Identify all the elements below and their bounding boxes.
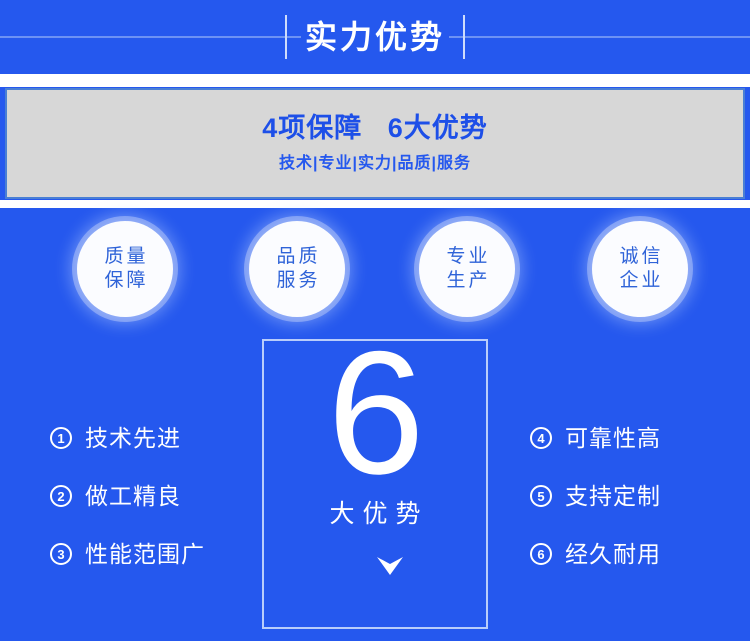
list-item-label: 支持定制 [565,485,661,508]
panel-headline: 4项保障 6大优势 [262,115,488,142]
feature-circle-quality[interactable]: 质量 保障 [77,221,173,317]
list-item-label: 性能范围广 [85,543,205,566]
list-item: 2 做工精良 [50,482,205,510]
advantage-count-caption: 大优势 [321,502,428,527]
vertical-tick-icon-right [463,15,465,59]
feature-circle-service[interactable]: 品质 服务 [249,221,345,317]
list-item-number: 2 [50,485,72,507]
feature-circle-row: 质量 保障 品质 服务 专业 生产 诚信 企业 [0,219,750,319]
list-item-number: 1 [50,427,72,449]
list-item: 4 可靠性高 [530,424,661,452]
vertical-tick-icon-left [285,15,287,59]
advantage-count-box: 6 大优势 [262,339,488,629]
guarantee-panel: 4项保障 6大优势 技术|专业|实力|品质|服务 [5,88,745,199]
feature-circle-line2: 企业 [616,270,663,292]
list-item: 1 技术先进 [50,424,205,452]
feature-circle-line1: 专业 [443,246,490,268]
feature-circle-integrity[interactable]: 诚信 企业 [592,221,688,317]
list-item-number: 6 [530,543,552,565]
feature-circle-line2: 生产 [443,270,490,292]
advantage-list-left: 1 技术先进 2 做工精良 3 性能范围广 [50,424,205,568]
list-item: 3 性能范围广 [50,540,205,568]
list-item-label: 可靠性高 [565,427,661,450]
advantage-count-number: 6 [327,333,422,496]
page-title: 实力优势 [301,21,449,53]
feature-circle-line1: 品质 [273,246,320,268]
feature-circle-line1: 诚信 [616,246,663,268]
promo-page: 实力优势 4项保障 6大优势 技术|专业|实力|品质|服务 质量 保障 品质 服… [0,0,750,641]
list-item-number: 3 [50,543,72,565]
list-item-number: 5 [530,485,552,507]
white-separator-bottom [0,200,750,208]
banner-title-group: 实力优势 [0,0,750,74]
list-item-number: 4 [530,427,552,449]
list-item-label: 经久耐用 [565,543,661,566]
list-item: 6 经久耐用 [530,540,661,568]
feature-circle-production[interactable]: 专业 生产 [419,221,515,317]
banner: 实力优势 [0,0,750,74]
list-item-label: 做工精良 [85,485,181,508]
list-item: 5 支持定制 [530,482,661,510]
white-separator-top [0,74,750,87]
feature-circle-line2: 服务 [273,270,320,292]
panel-subline: 技术|专业|实力|品质|服务 [279,156,471,172]
feature-circle-line1: 质量 [101,246,148,268]
feature-circle-line2: 保障 [101,270,148,292]
advantage-list-right: 4 可靠性高 5 支持定制 6 经久耐用 [530,424,661,568]
list-item-label: 技术先进 [85,427,181,450]
